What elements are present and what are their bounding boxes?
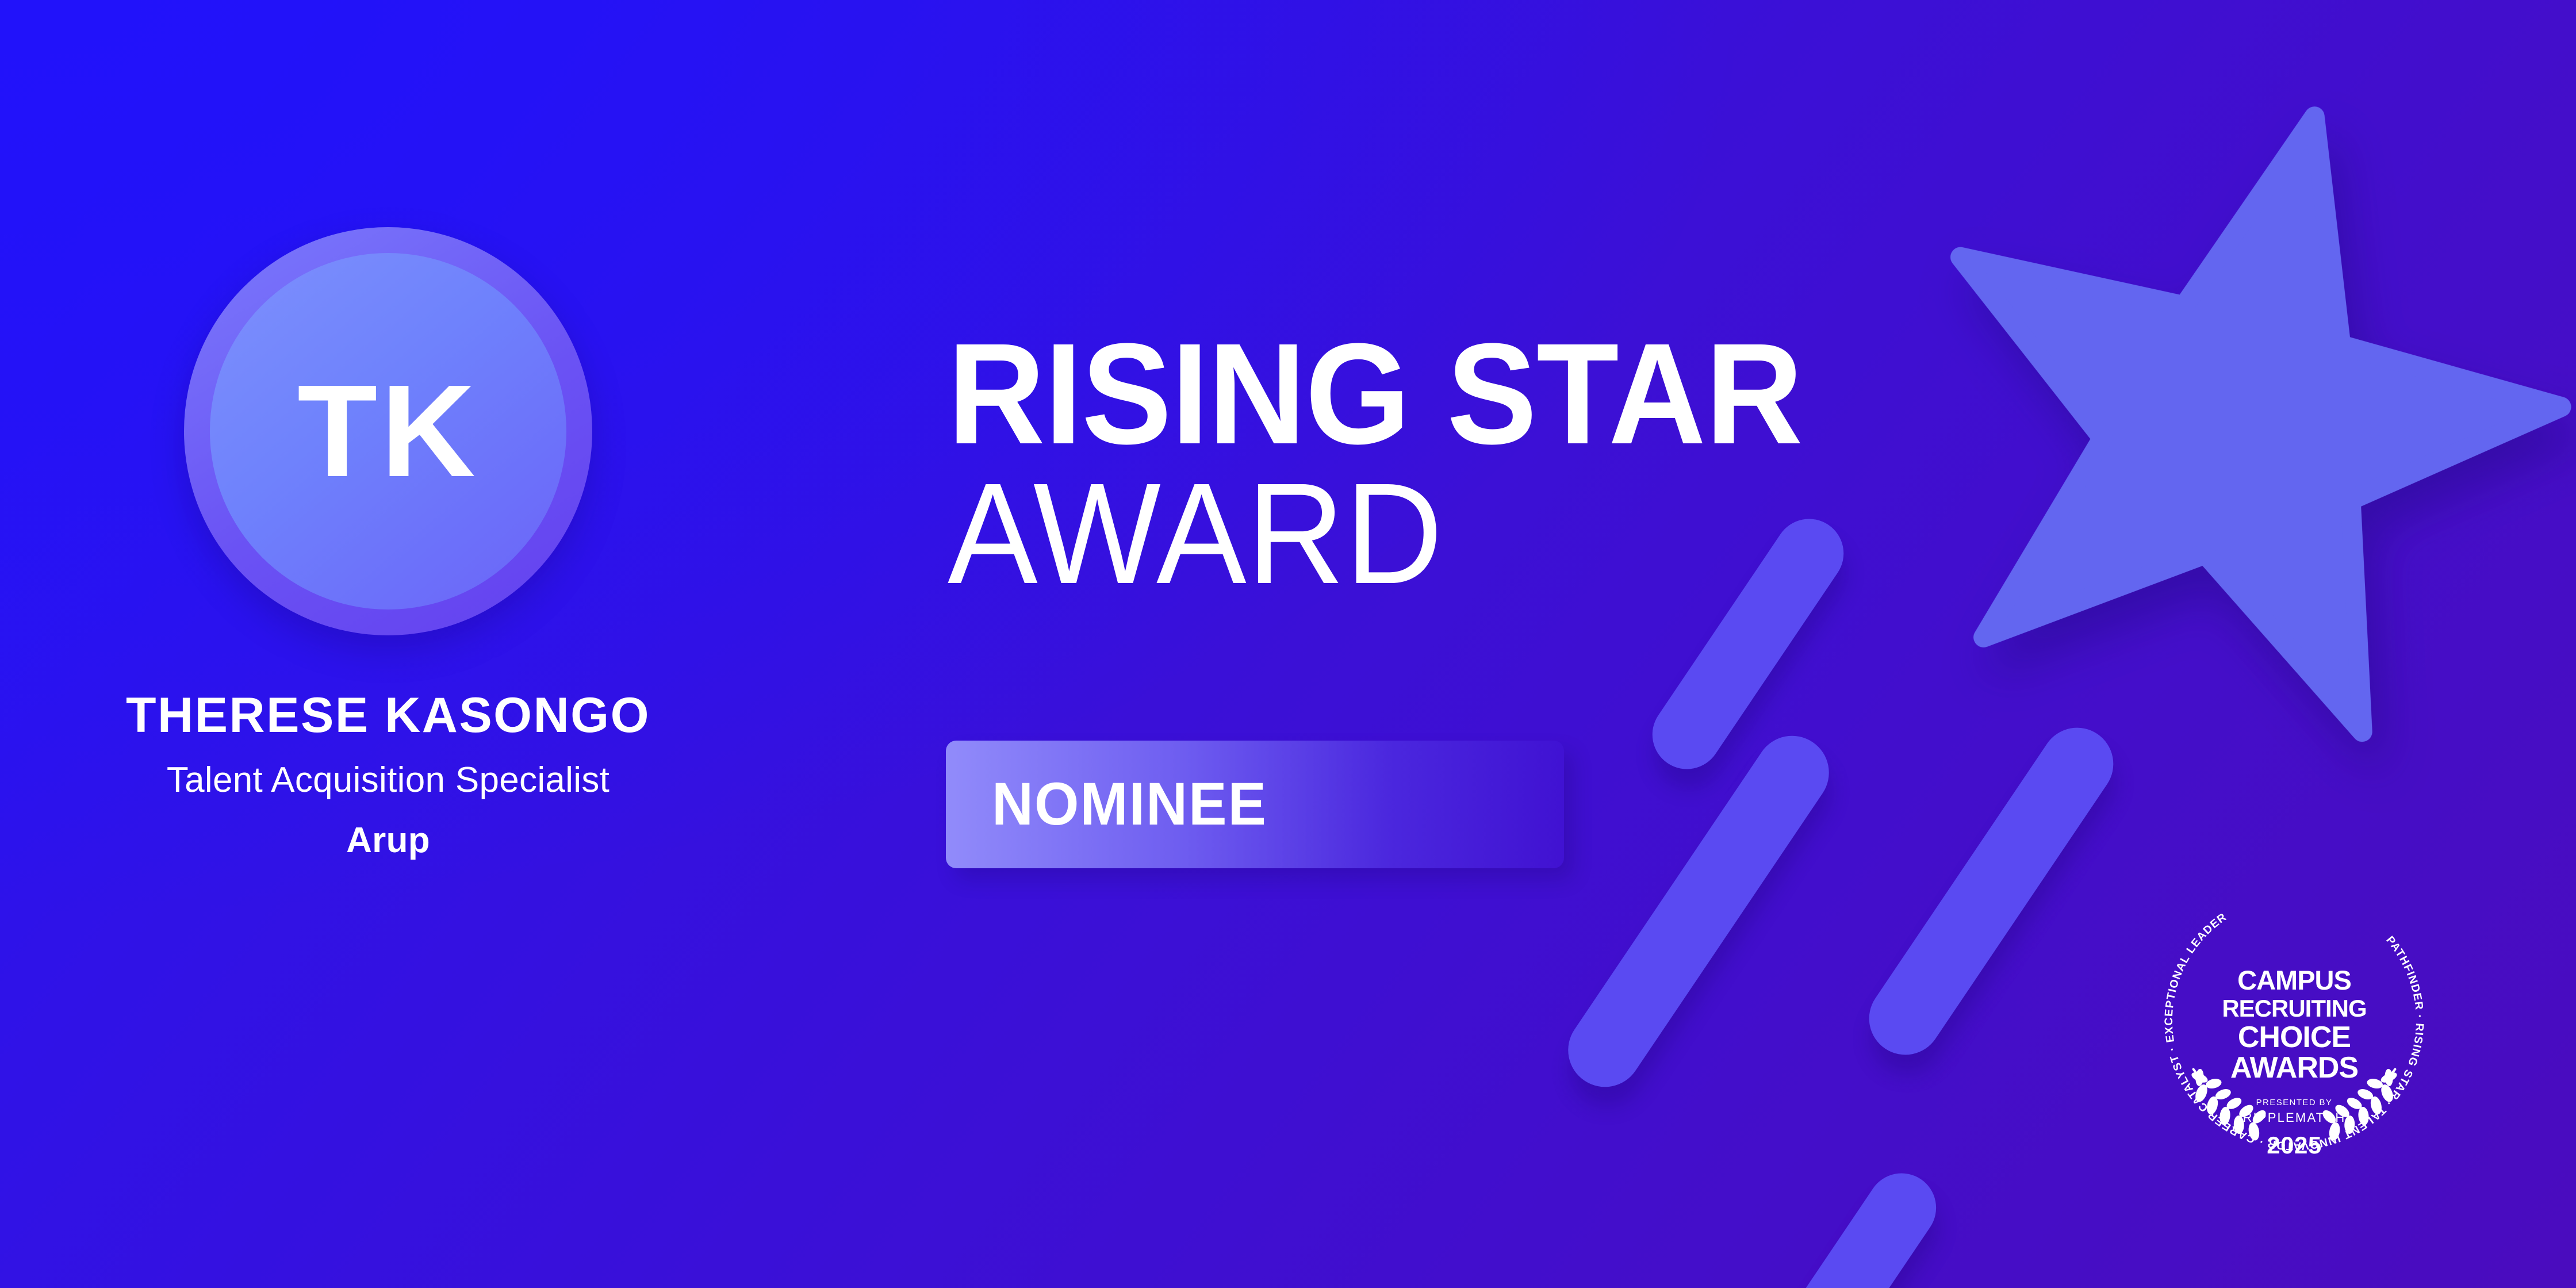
seal-line-3: CHOICE xyxy=(2238,1021,2351,1054)
seal-year: 2025 xyxy=(2267,1132,2321,1159)
nominee-job-title: Talent Acquisition Specialist xyxy=(75,760,701,800)
status-badge-label: NOMINEE xyxy=(992,770,1267,839)
nominee-company: Arup xyxy=(75,820,701,861)
award-title-line-1: RISING STAR xyxy=(948,328,1803,460)
motion-streak-2 xyxy=(1554,722,1843,1101)
seal-line-1: CAMPUS xyxy=(2237,965,2351,995)
nominee-name: THERESE KASONGO xyxy=(75,689,701,741)
seal-presented-by: PRESENTED BY xyxy=(2256,1098,2333,1107)
avatar-initials: TK xyxy=(297,366,479,497)
seal-line-2: RECRUITING xyxy=(2222,995,2366,1022)
award-title-line-2: AWARD xyxy=(948,466,1803,601)
avatar-inner-circle: TK xyxy=(210,253,566,609)
seal-line-4: AWARDS xyxy=(2230,1051,2358,1084)
award-graphic: TK THERESE KASONGO Talent Acquisition Sp… xyxy=(0,0,2576,1288)
awards-seal: PATHFINDER · RISING STAR · TALENT INNOVA… xyxy=(2150,877,2438,1164)
motion-streak-4 xyxy=(1777,1160,1950,1288)
nominee-profile: TK THERESE KASONGO Talent Acquisition Sp… xyxy=(75,227,701,861)
star-shape-icon xyxy=(1832,9,2576,825)
motion-streak-3 xyxy=(1855,714,2127,1069)
status-badge: NOMINEE xyxy=(946,741,1564,868)
avatar: TK xyxy=(184,227,592,635)
award-title-block: RISING STAR AWARD xyxy=(948,328,1857,601)
